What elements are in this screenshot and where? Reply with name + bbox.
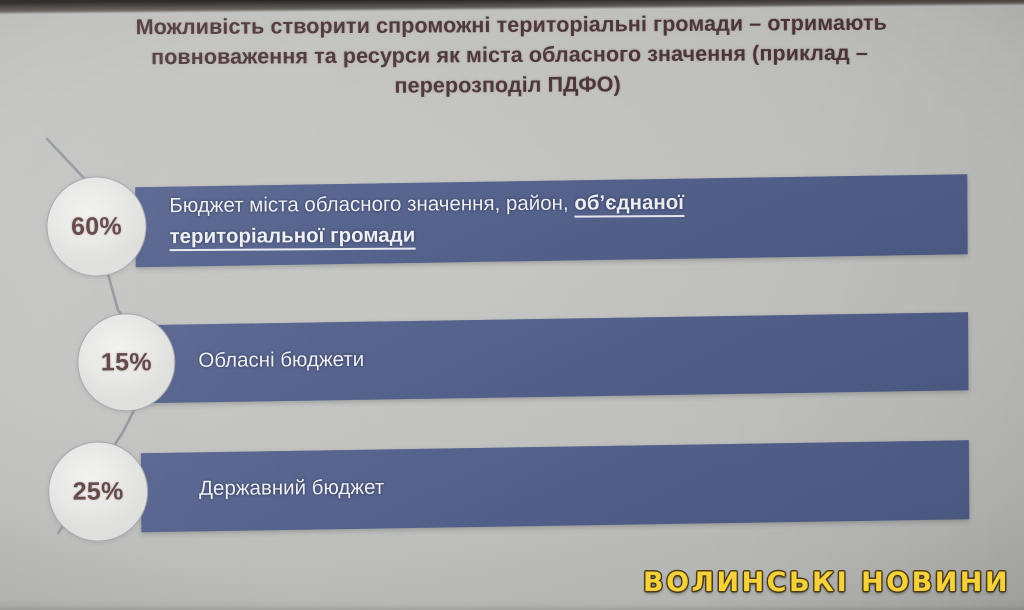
slide-title-line-3: перерозподіл ПДФО) bbox=[55, 67, 961, 103]
percent-circle-2[interactable]: 15% bbox=[77, 313, 176, 412]
bar-1-label: Бюджет міста обласного значення, район, … bbox=[169, 187, 684, 252]
projected-slide-photo: Можливість створити спроможні територіал… bbox=[0, 0, 1024, 610]
chart-row-1[interactable]: Бюджет міста обласного значення, район, … bbox=[0, 157, 985, 271]
bar-1-label-emphasis-1: об’єднаної bbox=[574, 191, 684, 218]
news-watermark: ВОЛИНСЬКІ НОВИНИ bbox=[643, 567, 1010, 598]
bar-2-label: Обласні бюджети bbox=[198, 344, 364, 376]
chart-row-3[interactable]: Державний бюджет 25% bbox=[1, 424, 987, 538]
slide-content-stage: Можливість створити спроможні територіал… bbox=[0, 0, 1024, 610]
bar-3-label: Державний бюджет bbox=[199, 472, 384, 504]
chart-row-2[interactable]: Обласні бюджети 15% bbox=[0, 292, 986, 406]
percent-circle-1[interactable]: 60% bbox=[46, 176, 147, 277]
bar-1-label-plain: Бюджет міста обласного значення, район, bbox=[169, 192, 574, 217]
bar-1-label-emphasis-2: територіальної громади bbox=[170, 224, 416, 252]
percent-circle-3[interactable]: 25% bbox=[48, 441, 149, 542]
screen-bottom-edge bbox=[0, 600, 1024, 610]
slide-title: Можливість створити спроможні територіал… bbox=[58, 7, 965, 103]
